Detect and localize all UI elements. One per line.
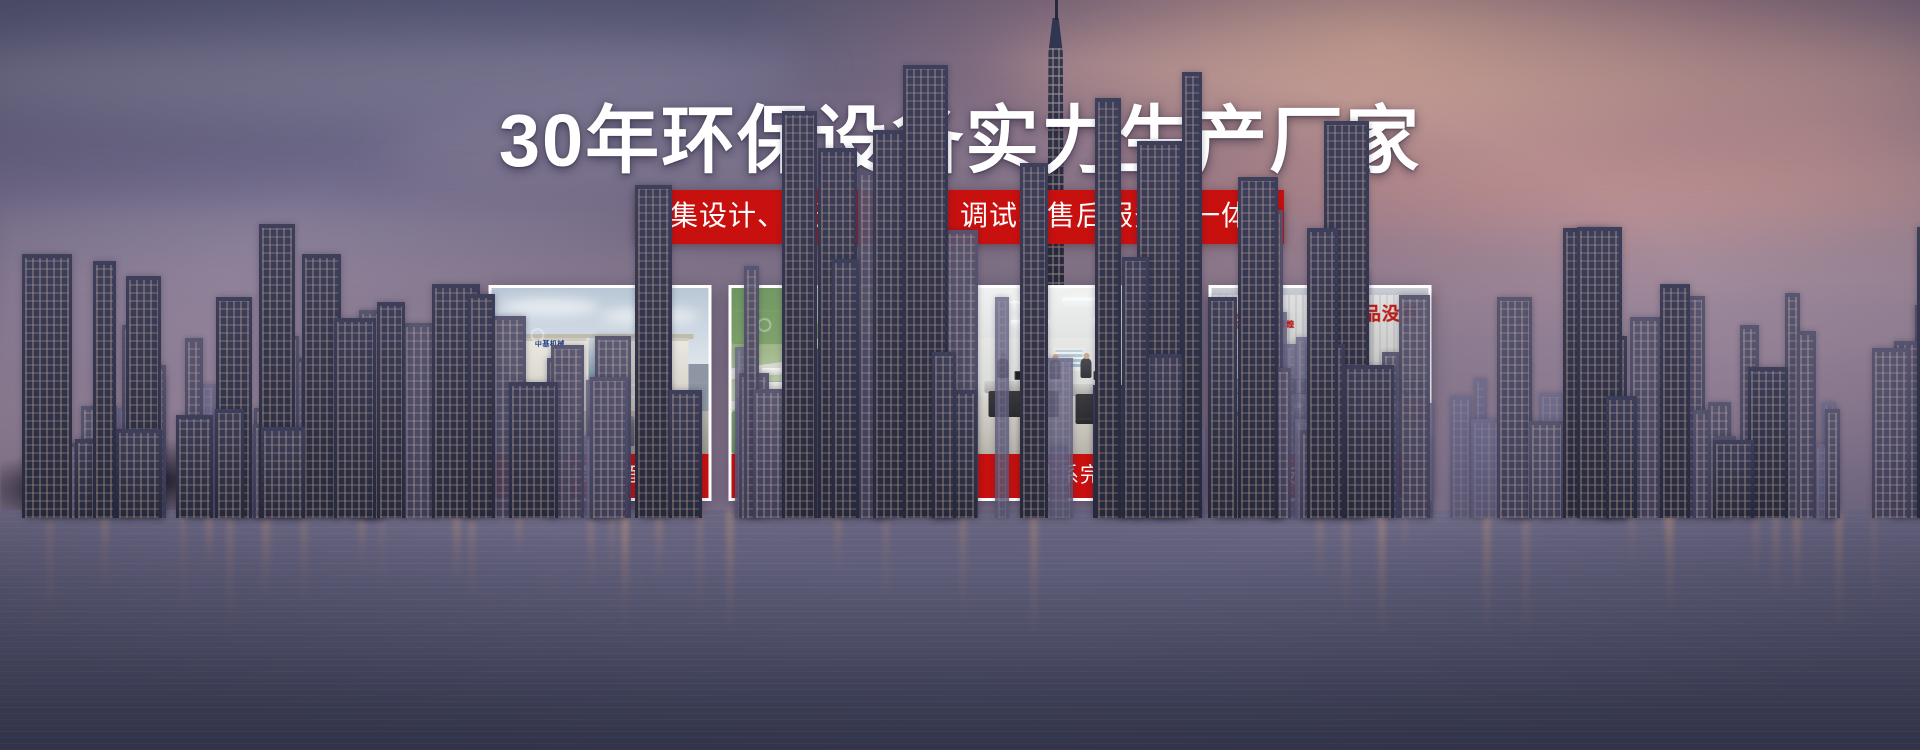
hero-banner: 30年环保设备实力生产厂家 集设计、制造、安装、调试、售后服务于一体 中基机械 … bbox=[0, 0, 1920, 750]
banner-headline: 30年环保设备实力生产厂家 bbox=[0, 104, 1920, 178]
